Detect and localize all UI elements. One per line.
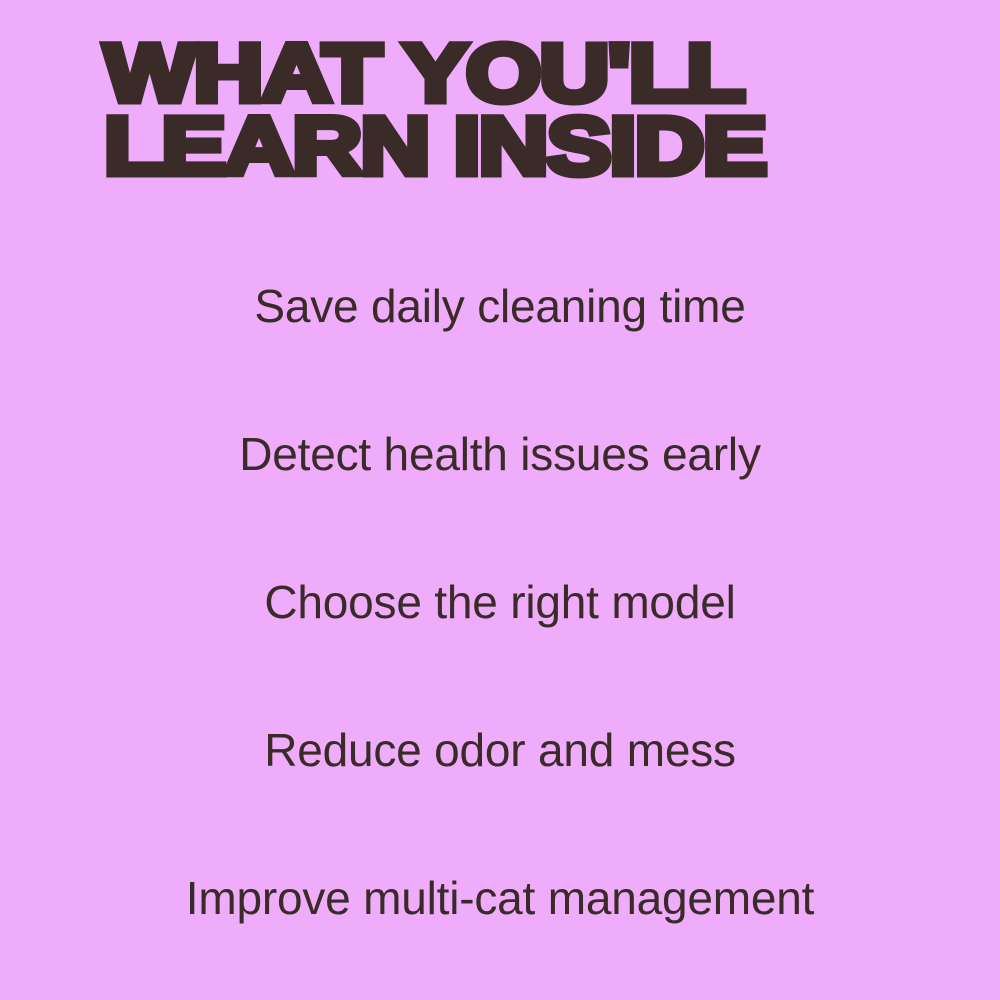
- list-item: Save daily cleaning time: [0, 232, 1000, 380]
- poster-canvas: WHAT YOU'LL LEARN INSIDE Save daily clea…: [0, 0, 1000, 1000]
- page-title: WHAT YOU'LL LEARN INSIDE: [104, 38, 924, 182]
- list-item: Detect health issues early: [0, 380, 1000, 528]
- list-item: Improve multi-cat management: [0, 824, 1000, 972]
- list-item: Reduce odor and mess: [0, 676, 1000, 824]
- page-title-line-2: LEARN INSIDE: [104, 111, 1000, 182]
- benefits-list: Save daily cleaning time Detect health i…: [0, 232, 1000, 972]
- page-title-line-1: WHAT YOU'LL: [104, 38, 1000, 109]
- list-item: Choose the right model: [0, 528, 1000, 676]
